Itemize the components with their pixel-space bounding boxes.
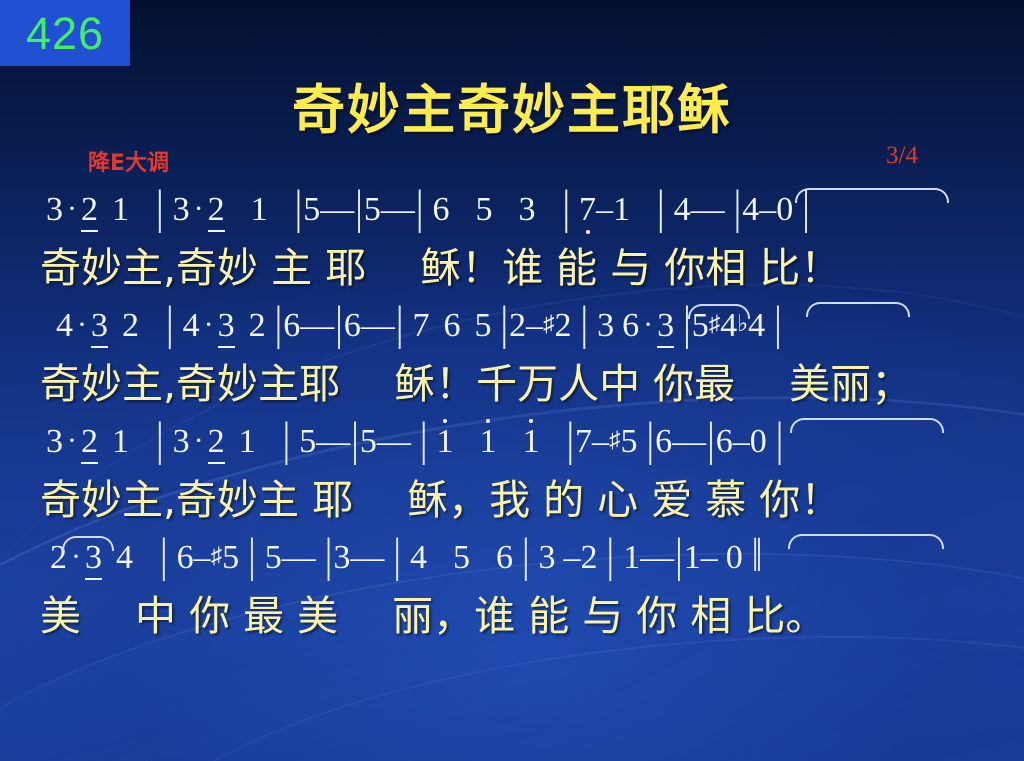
sustain-dash: – bbox=[317, 307, 334, 345]
note: 3 bbox=[85, 539, 102, 580]
note: 6 bbox=[655, 423, 672, 461]
music-system-2: 4·32|4·32|6––|6––|765|2–♯2|36·3|5♯4♭4| 奇… bbox=[0, 302, 1024, 410]
note: 1 bbox=[239, 423, 256, 461]
note: 5 bbox=[265, 539, 282, 577]
barline: | bbox=[801, 181, 811, 236]
sustain-dash: – bbox=[337, 191, 354, 229]
sustain-dash: – bbox=[300, 307, 317, 345]
sustain-dash: – bbox=[394, 423, 411, 461]
note: 6 bbox=[443, 307, 460, 345]
sustain-dash: – bbox=[299, 539, 316, 577]
note: 3 bbox=[173, 423, 190, 461]
note: 4 bbox=[183, 307, 200, 345]
key-signature-label: 降E大调 bbox=[88, 145, 169, 177]
barline: | bbox=[354, 181, 364, 236]
note: 3 bbox=[539, 539, 556, 577]
sustain-dash: – bbox=[316, 423, 333, 461]
note: 2 bbox=[208, 191, 225, 232]
note: 1 bbox=[613, 191, 630, 229]
sharp-accidental: ♯ bbox=[543, 311, 555, 337]
note: 2 bbox=[208, 423, 225, 464]
barline: | bbox=[155, 413, 165, 468]
note: 0 bbox=[776, 191, 793, 229]
barline: | bbox=[165, 297, 175, 352]
hymn-slide: 426 奇妙主奇妙主耶稣 降E大调 3/4 3·21|3·21|5––|5––|… bbox=[0, 0, 1024, 761]
note: 6 bbox=[344, 307, 361, 345]
note: 1 bbox=[684, 539, 701, 577]
note: 5 bbox=[453, 539, 470, 577]
barline: | bbox=[682, 297, 692, 352]
note: 3 bbox=[46, 191, 63, 229]
note: 0 bbox=[726, 539, 743, 577]
note: 5 bbox=[299, 423, 316, 461]
note: 5 bbox=[475, 191, 492, 229]
note: 5 bbox=[364, 191, 381, 229]
sustain-dash: – bbox=[672, 423, 689, 461]
barline: | bbox=[499, 297, 509, 352]
note: 6 bbox=[622, 307, 639, 345]
notation-line-4: 2·34|6–♯5|5––|3––|456|3–2|1––|1–0‖ bbox=[0, 534, 1024, 582]
note-high-octave: 1 bbox=[522, 423, 539, 461]
sustain-dash: – bbox=[701, 539, 718, 577]
note: 2 bbox=[509, 307, 526, 345]
barline: | bbox=[565, 413, 575, 468]
barline: | bbox=[646, 413, 656, 468]
sustain-dash: – bbox=[759, 191, 776, 229]
sustain-dash: – bbox=[526, 307, 543, 345]
time-signature-label: 3/4 bbox=[886, 142, 918, 170]
note-high-octave: 1 bbox=[479, 423, 496, 461]
sustain-dash: – bbox=[657, 539, 674, 577]
slur bbox=[806, 302, 910, 317]
sharp-accidental: ♯ bbox=[709, 311, 721, 337]
barline: | bbox=[155, 181, 165, 236]
note: 3 bbox=[597, 307, 614, 345]
note: 4 bbox=[56, 307, 73, 345]
note: 6 bbox=[432, 191, 449, 229]
sustain-dash: – bbox=[194, 539, 211, 577]
barline: | bbox=[733, 181, 743, 236]
barline: | bbox=[392, 529, 402, 584]
score: 3·21|3·21|5––|5––|653|7–1|4––|4–0| 奇妙主,奇… bbox=[0, 186, 1024, 650]
note: 6 bbox=[496, 539, 513, 577]
barline: | bbox=[294, 181, 304, 236]
augmentation-dot: · bbox=[67, 540, 85, 574]
note: 7 bbox=[412, 307, 429, 345]
tie-slur bbox=[790, 418, 944, 433]
note: 5 bbox=[303, 191, 320, 229]
sustain-dash: – bbox=[596, 191, 613, 229]
barline: | bbox=[706, 413, 716, 468]
note: 2 bbox=[249, 307, 266, 345]
note: 4 bbox=[720, 307, 737, 345]
note: 2 bbox=[581, 539, 598, 577]
notation-line-1: 3·21|3·21|5––|5––|653|7–1|4––|4–0| bbox=[0, 186, 1024, 234]
note: 0 bbox=[750, 423, 767, 461]
note: 5 bbox=[692, 307, 709, 345]
hymn-number-badge: 426 bbox=[0, 0, 130, 66]
lyric-line-1: 奇妙主,奇妙 主 耶 稣！谁 能 与 你相 比！ bbox=[0, 234, 1024, 294]
sustain-dash: – bbox=[691, 191, 708, 229]
note: 2 bbox=[50, 539, 67, 577]
note: 3 bbox=[333, 539, 350, 577]
note: 3 bbox=[173, 191, 190, 229]
sharp-accidental: ♯ bbox=[211, 543, 223, 569]
note: 1 bbox=[623, 539, 640, 577]
note: 2 bbox=[122, 307, 139, 345]
sustain-dash: – bbox=[350, 539, 367, 577]
sustain-dash: – bbox=[398, 191, 415, 229]
sustain-dash: – bbox=[333, 423, 350, 461]
note: 5 bbox=[222, 539, 239, 577]
note: 5 bbox=[360, 423, 377, 461]
note: 6 bbox=[283, 307, 300, 345]
sustain-dash: – bbox=[367, 539, 384, 577]
page-title: 奇妙主奇妙主耶稣 bbox=[0, 68, 1024, 144]
flat-accidental: ♭ bbox=[737, 311, 748, 337]
sustain-dash: – bbox=[361, 307, 378, 345]
tie-slur bbox=[788, 534, 944, 549]
barline: | bbox=[395, 297, 405, 352]
barline: | bbox=[350, 413, 360, 468]
barline: | bbox=[775, 413, 785, 468]
music-system-1: 3·21|3·21|5––|5––|653|7–1|4––|4–0| 奇妙主,奇… bbox=[0, 186, 1024, 294]
barline: | bbox=[773, 297, 783, 352]
note: 4 bbox=[674, 191, 691, 229]
note: 1 bbox=[112, 191, 129, 229]
barline: | bbox=[247, 529, 257, 584]
sustain-dash: – bbox=[592, 423, 609, 461]
sustain-dash: – bbox=[640, 539, 657, 577]
note: 7 bbox=[579, 191, 596, 229]
barline: | bbox=[521, 529, 531, 584]
sustain-dash: – bbox=[708, 191, 725, 229]
sustain-dash: – bbox=[689, 423, 706, 461]
barline: | bbox=[159, 529, 169, 584]
note: 4 bbox=[410, 539, 427, 577]
augmentation-dot: · bbox=[73, 308, 91, 342]
lyric-line-2: 奇妙主,奇妙主耶 稣！千万人中 你最 美丽； bbox=[0, 350, 1024, 410]
sustain-dash: – bbox=[378, 307, 395, 345]
barline: | bbox=[561, 181, 571, 236]
final-barline: ‖ bbox=[751, 529, 764, 584]
sharp-accidental: ♯ bbox=[609, 427, 621, 453]
barline: | bbox=[324, 529, 334, 584]
note: 2 bbox=[555, 307, 572, 345]
augmentation-dot: · bbox=[639, 308, 657, 342]
barline: | bbox=[334, 297, 344, 352]
tie-slur bbox=[795, 188, 949, 203]
note: 3 bbox=[518, 191, 535, 229]
note: 2 bbox=[81, 191, 98, 232]
lyric-line-4: 美 中 你 最 美 丽，谁 能 与 你 相 比。 bbox=[0, 582, 1024, 642]
sustain-dash: – bbox=[381, 191, 398, 229]
note: 1 bbox=[251, 191, 268, 229]
augmentation-dot: · bbox=[63, 424, 81, 458]
note: 4 bbox=[748, 307, 765, 345]
note: 5 bbox=[474, 307, 491, 345]
augmentation-dot: · bbox=[190, 424, 208, 458]
augmentation-dot: · bbox=[200, 308, 218, 342]
note: 3 bbox=[657, 307, 674, 348]
note: 4 bbox=[742, 191, 759, 229]
note: 7 bbox=[575, 423, 592, 461]
augmentation-dot: · bbox=[190, 192, 208, 226]
note: 6 bbox=[177, 539, 194, 577]
note: 2 bbox=[81, 423, 98, 464]
music-system-3: 3·21|3·21|5––|5––|111|7–♯5|6––|6–0| 奇妙主,… bbox=[0, 418, 1024, 526]
barline: | bbox=[274, 297, 284, 352]
sustain-dash: – bbox=[564, 539, 581, 577]
notation-line-3: 3·21|3·21|5––|5––|111|7–♯5|6––|6–0| bbox=[0, 418, 1024, 466]
hymn-number: 426 bbox=[26, 11, 104, 56]
notation-line-2: 4·32|4·32|6––|6––|765|2–♯2|36·3|5♯4♭4| bbox=[0, 302, 1024, 350]
note-high-octave: 1 bbox=[436, 423, 453, 461]
music-system-4: 2·34|6–♯5|5––|3––|456|3–2|1––|1–0‖ 美 中 你… bbox=[0, 534, 1024, 642]
sustain-dash: – bbox=[320, 191, 337, 229]
sustain-dash: – bbox=[377, 423, 394, 461]
note: 6 bbox=[716, 423, 733, 461]
barline: | bbox=[674, 529, 684, 584]
augmentation-dot: · bbox=[63, 192, 81, 226]
barline: | bbox=[656, 181, 666, 236]
sustain-dash: – bbox=[282, 539, 299, 577]
note: 3 bbox=[46, 423, 63, 461]
note: 3 bbox=[218, 307, 235, 348]
lyric-line-3: 奇妙主,奇妙主 耶 稣，我 的 心 爱 慕 你！ bbox=[0, 466, 1024, 526]
barline: | bbox=[580, 297, 590, 352]
barline: | bbox=[606, 529, 616, 584]
note: 4 bbox=[116, 539, 133, 577]
barline: | bbox=[415, 181, 425, 236]
barline: | bbox=[419, 413, 429, 468]
note: 5 bbox=[621, 423, 638, 461]
note: 1 bbox=[112, 423, 129, 461]
barline: | bbox=[282, 413, 292, 468]
sustain-dash: – bbox=[733, 423, 750, 461]
note: 3 bbox=[91, 307, 108, 348]
